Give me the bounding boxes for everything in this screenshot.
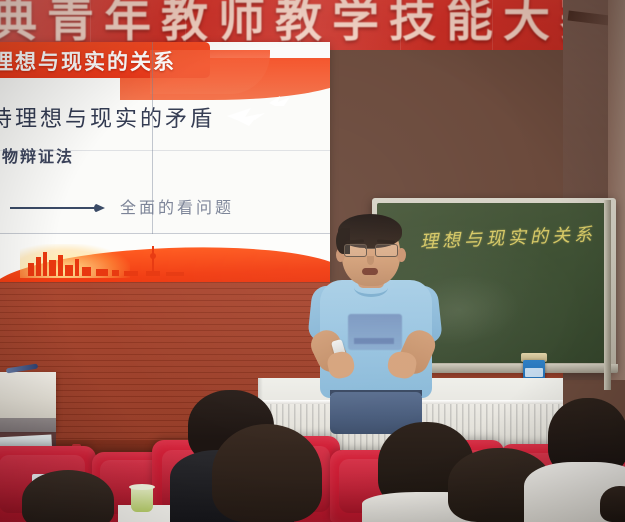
slide-arrow-icon: [10, 202, 110, 214]
cityscape-silhouette: [0, 240, 330, 276]
audience-head: [22, 470, 114, 522]
slide-line-1: 待理想与现实的矛盾: [0, 101, 215, 133]
glasses-icon: [344, 244, 398, 255]
slide-line-2: 唯物辩证法: [0, 143, 74, 167]
audience-head: [600, 486, 625, 522]
shirt-print-graphic: [348, 314, 402, 350]
banner-title: 典青年教师教学技能大赛: [0, 0, 563, 46]
slide-title: 理想与现实的关系: [0, 46, 176, 76]
slide-sunrise-graphic: [0, 234, 330, 282]
projection-screen: 理想与现实的关系 待理想与现实的矛盾 唯物辩证法 全面的看问题: [0, 42, 330, 282]
green-paper-cup: [131, 487, 153, 512]
blackboard-stand: [604, 200, 611, 390]
photo-scene: 典青年教师教学技能大赛 理想与现实的关系 待理想与现实的矛盾 唯物辩证法: [0, 0, 625, 522]
presenter: [306, 212, 446, 422]
audience-head: [212, 424, 322, 522]
dove-small-icon: [268, 94, 294, 110]
slide-line-3: 全面的看问题: [120, 194, 234, 218]
